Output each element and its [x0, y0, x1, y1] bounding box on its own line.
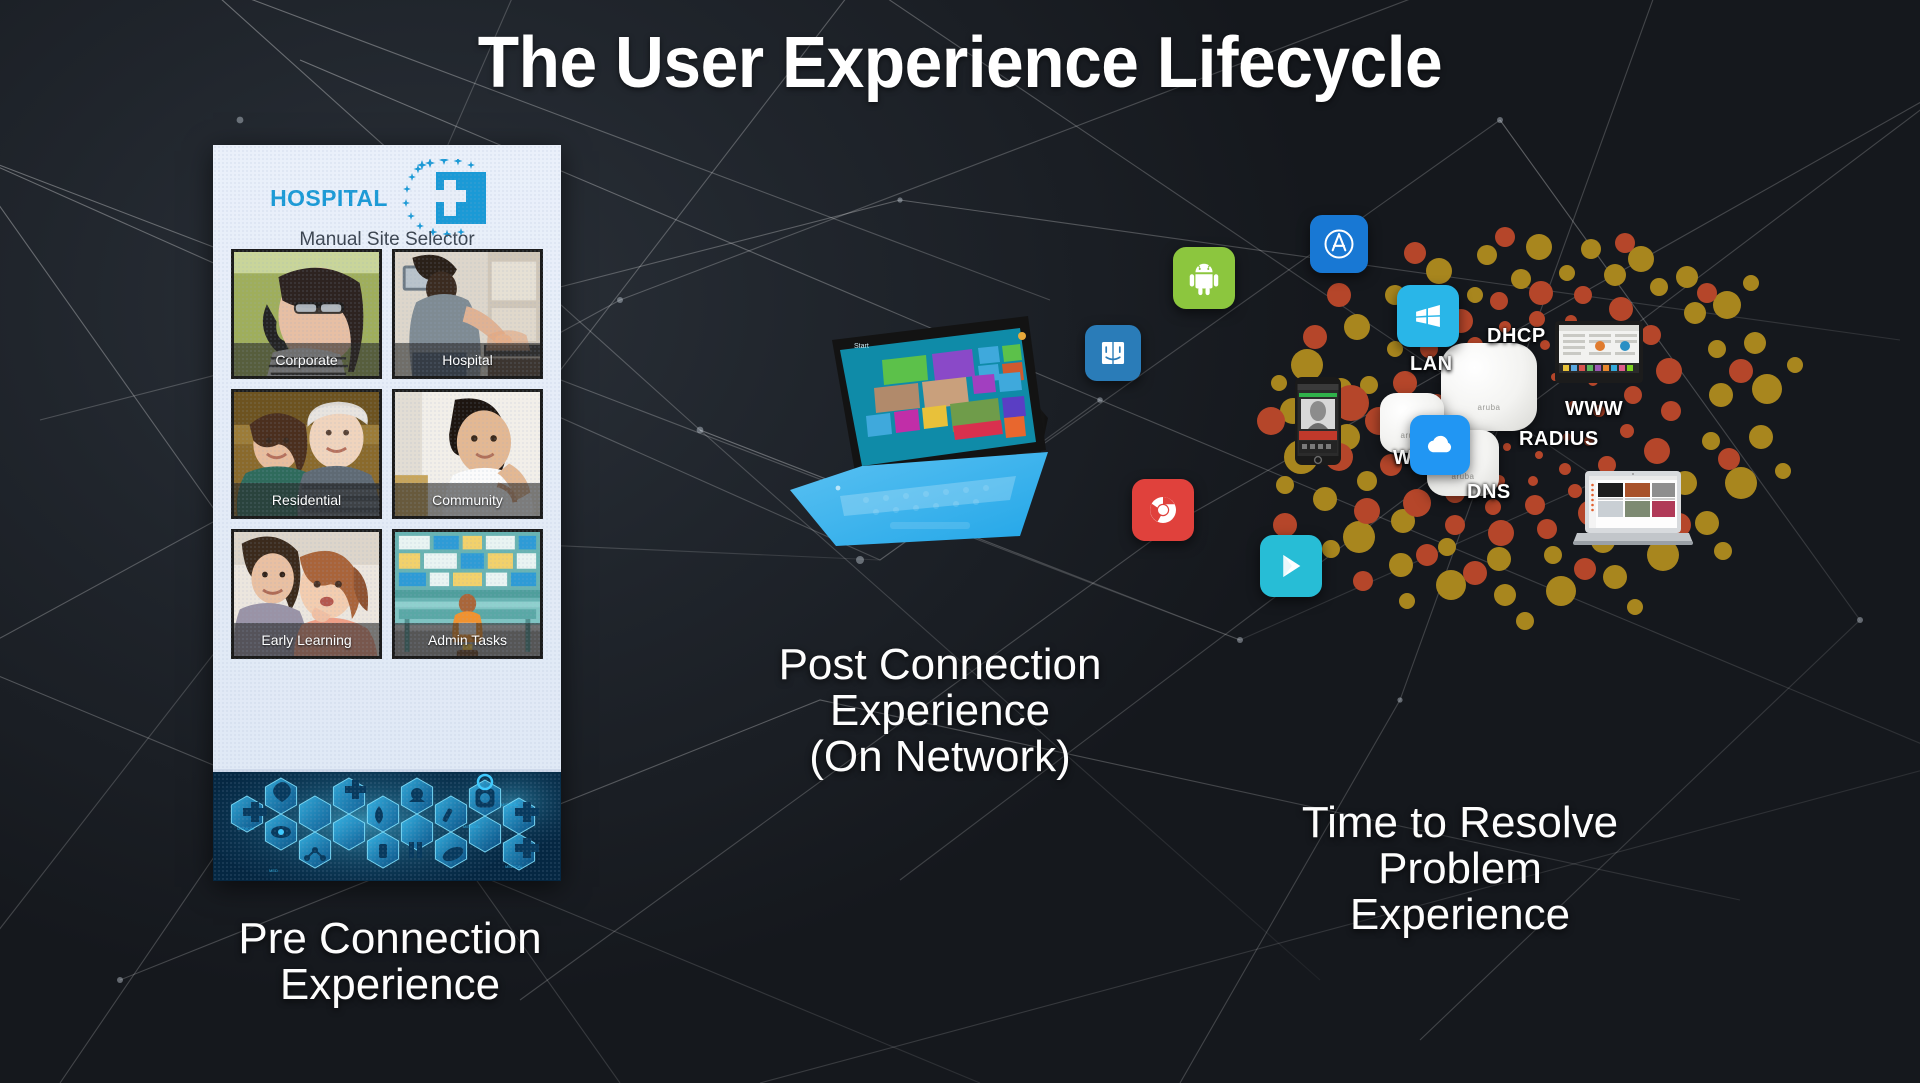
svg-text:MEDICAL: MEDICAL: [463, 824, 482, 829]
net-label-www: WWW: [1565, 398, 1623, 421]
site-tile-admin-tasks[interactable]: Admin Tasks: [392, 529, 543, 659]
site-tile-community[interactable]: Community: [392, 389, 543, 519]
google-play-glyph: [1274, 549, 1308, 583]
finder-glyph: [1096, 336, 1130, 370]
caption-post-connection: Post Connection Experience (On Network): [660, 642, 1220, 781]
site-tile-label: Community: [395, 483, 540, 516]
hospital-logo-text: HOSPITAL: [270, 185, 388, 212]
site-tile-grid: Corporate: [231, 249, 543, 659]
smartphone-video-call: [1295, 377, 1341, 465]
svg-text:MEDICAL: MEDICAL: [505, 864, 524, 869]
site-tile-label: Early Learning: [234, 623, 379, 656]
svg-text:MEDICAL: MEDICAL: [501, 802, 520, 807]
manual-site-selector-panel: HOSPITAL: [213, 145, 561, 881]
site-tile-corporate[interactable]: Corporate: [231, 249, 382, 379]
panel-subtitle: Manual Site Selector: [213, 229, 561, 251]
slide-title: The User Experience Lifecycle: [58, 22, 1863, 104]
site-tile-label: Corporate: [234, 343, 379, 376]
finder-icon[interactable]: [1085, 325, 1141, 381]
android-glyph: [1185, 259, 1223, 297]
app-store-icon[interactable]: [1310, 215, 1368, 273]
site-tile-residential[interactable]: Residential: [231, 389, 382, 519]
net-label-dhcp: DHCP: [1487, 325, 1546, 348]
caption-time-to-resolve: Time to Resolve Problem Experience: [1120, 800, 1800, 939]
laptop-photo-gallery: [1573, 471, 1693, 549]
cloud-glyph: [1422, 427, 1458, 463]
microsoft-surface-tablet: Start: [770, 300, 1110, 550]
hospital-logo: HOSPITAL: [213, 159, 561, 237]
svg-text:MED: MED: [269, 868, 278, 873]
svg-text:Start: Start: [854, 343, 869, 350]
medical-hexagon-banner: MEDICAL MEDICAL MEDICAL MEDICAL MED: [213, 769, 561, 881]
chrome-icon[interactable]: [1132, 479, 1194, 541]
site-tile-hospital[interactable]: Hospital: [392, 249, 543, 379]
android-icon[interactable]: [1173, 247, 1235, 309]
windows-glyph: [1411, 299, 1445, 333]
network-dot-cloud: aruba aruba aruba: [1255, 225, 1815, 645]
svg-text:MEDICAL: MEDICAL: [237, 826, 256, 831]
hospital-cross-h-icon: [392, 159, 504, 237]
site-tile-label: Residential: [234, 483, 379, 516]
slide-stage: The User Experience Lifecycle HOSPITAL: [0, 0, 1920, 1083]
site-tile-label: Hospital: [395, 343, 540, 376]
net-label-dns: DNS: [1467, 481, 1511, 504]
windows-icon[interactable]: [1397, 285, 1459, 347]
caption-pre-connection: Pre Connection Experience: [100, 916, 680, 1008]
google-play-icon[interactable]: [1260, 535, 1322, 597]
net-label-lan: LAN: [1410, 353, 1453, 376]
app-store-glyph: [1321, 226, 1357, 262]
cloud-icon[interactable]: [1410, 415, 1470, 475]
site-tile-label: Admin Tasks: [395, 623, 540, 656]
tablet-browser: [1555, 321, 1643, 383]
net-label-radius: RADIUS: [1519, 428, 1599, 451]
panel-header: HOSPITAL: [213, 145, 561, 243]
chrome-glyph: [1143, 490, 1183, 530]
aruba-brand-label: aruba: [1441, 403, 1537, 412]
site-tile-early-learning[interactable]: Early Learning: [231, 529, 382, 659]
